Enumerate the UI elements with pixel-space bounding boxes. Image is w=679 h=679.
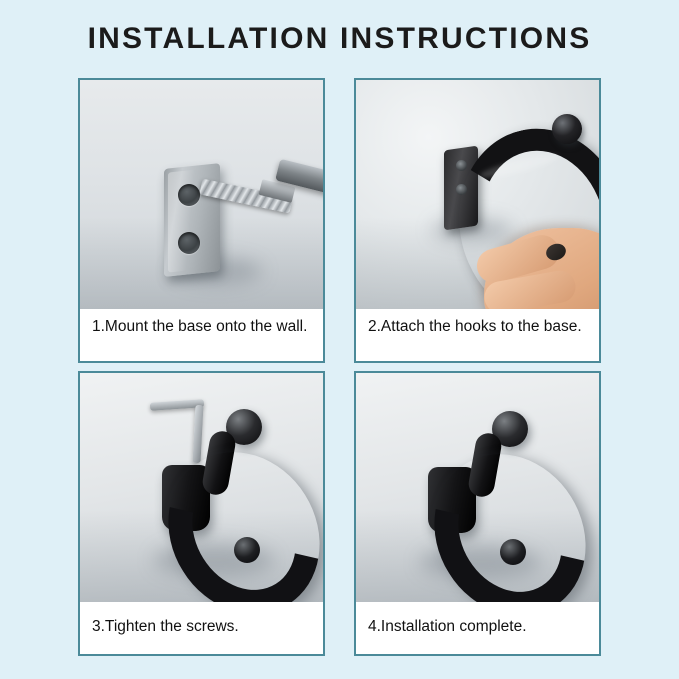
- allen-key-stem: [192, 405, 203, 463]
- step-card-4: 4.Installation complete.: [354, 371, 601, 656]
- step-image-2: [356, 80, 599, 309]
- hook-ball-tip: [552, 114, 582, 144]
- base-screw-hole-top: [178, 184, 200, 206]
- step-card-1: 1.Mount the base onto the wall.: [78, 78, 325, 363]
- step-image-4: [356, 373, 599, 602]
- step-image-3: [80, 373, 323, 602]
- steps-grid: 1.Mount the base onto the wall. 2.Attach…: [78, 78, 601, 656]
- step-card-3: 3.Tighten the screws.: [78, 371, 325, 656]
- page-title: INSTALLATION INSTRUCTIONS: [0, 22, 679, 56]
- hook-tip: [500, 539, 526, 565]
- hook-assembly: [80, 373, 323, 602]
- step-caption-3: 3.Tighten the screws.: [80, 602, 323, 654]
- step-card-2: 2.Attach the hooks to the base.: [354, 78, 601, 363]
- bracket-hole-top: [456, 160, 467, 171]
- hook-assembly: [356, 373, 599, 602]
- step-caption-1: 1.Mount the base onto the wall.: [80, 309, 323, 361]
- step-caption-2: 2.Attach the hooks to the base.: [356, 309, 599, 361]
- hook-curve: [404, 426, 599, 602]
- hook-tip: [234, 537, 260, 563]
- step-caption-4: 4.Installation complete.: [356, 602, 599, 654]
- step-image-1: [80, 80, 323, 309]
- instruction-sheet: INSTALLATION INSTRUCTIONS 1.Mount the ba…: [0, 0, 679, 679]
- base-screw-hole-bottom: [178, 232, 200, 254]
